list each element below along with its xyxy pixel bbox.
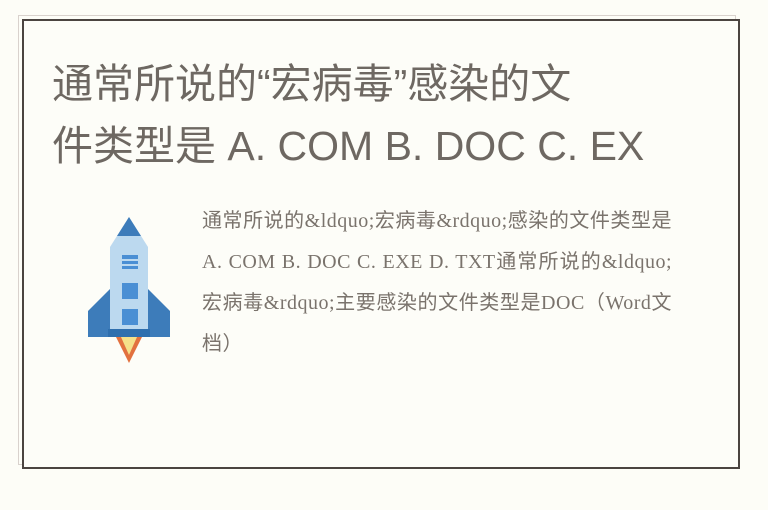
- card-content: 通常所说的“宏病毒”感染的文 件类型是 A. COM B. DOC C. EX: [22, 19, 740, 469]
- article-body-text: 通常所说的&ldquo;宏病毒&rdquo;感染的文件类型是 A. COM B.…: [202, 201, 672, 365]
- rocket-icon: [86, 211, 172, 363]
- page-title: 通常所说的“宏病毒”感染的文 件类型是 A. COM B. DOC C. EX: [52, 53, 740, 177]
- article-body-area: 通常所说的&ldquo;宏病毒&rdquo;感染的文件类型是 A. COM B.…: [22, 201, 740, 461]
- page-title-line-1: 通常所说的“宏病毒”感染的文: [52, 53, 740, 115]
- page-title-line-2: 件类型是 A. COM B. DOC C. EX: [52, 115, 740, 177]
- article-card-page: 通常所说的“宏病毒”感染的文 件类型是 A. COM B. DOC C. EX: [0, 0, 768, 510]
